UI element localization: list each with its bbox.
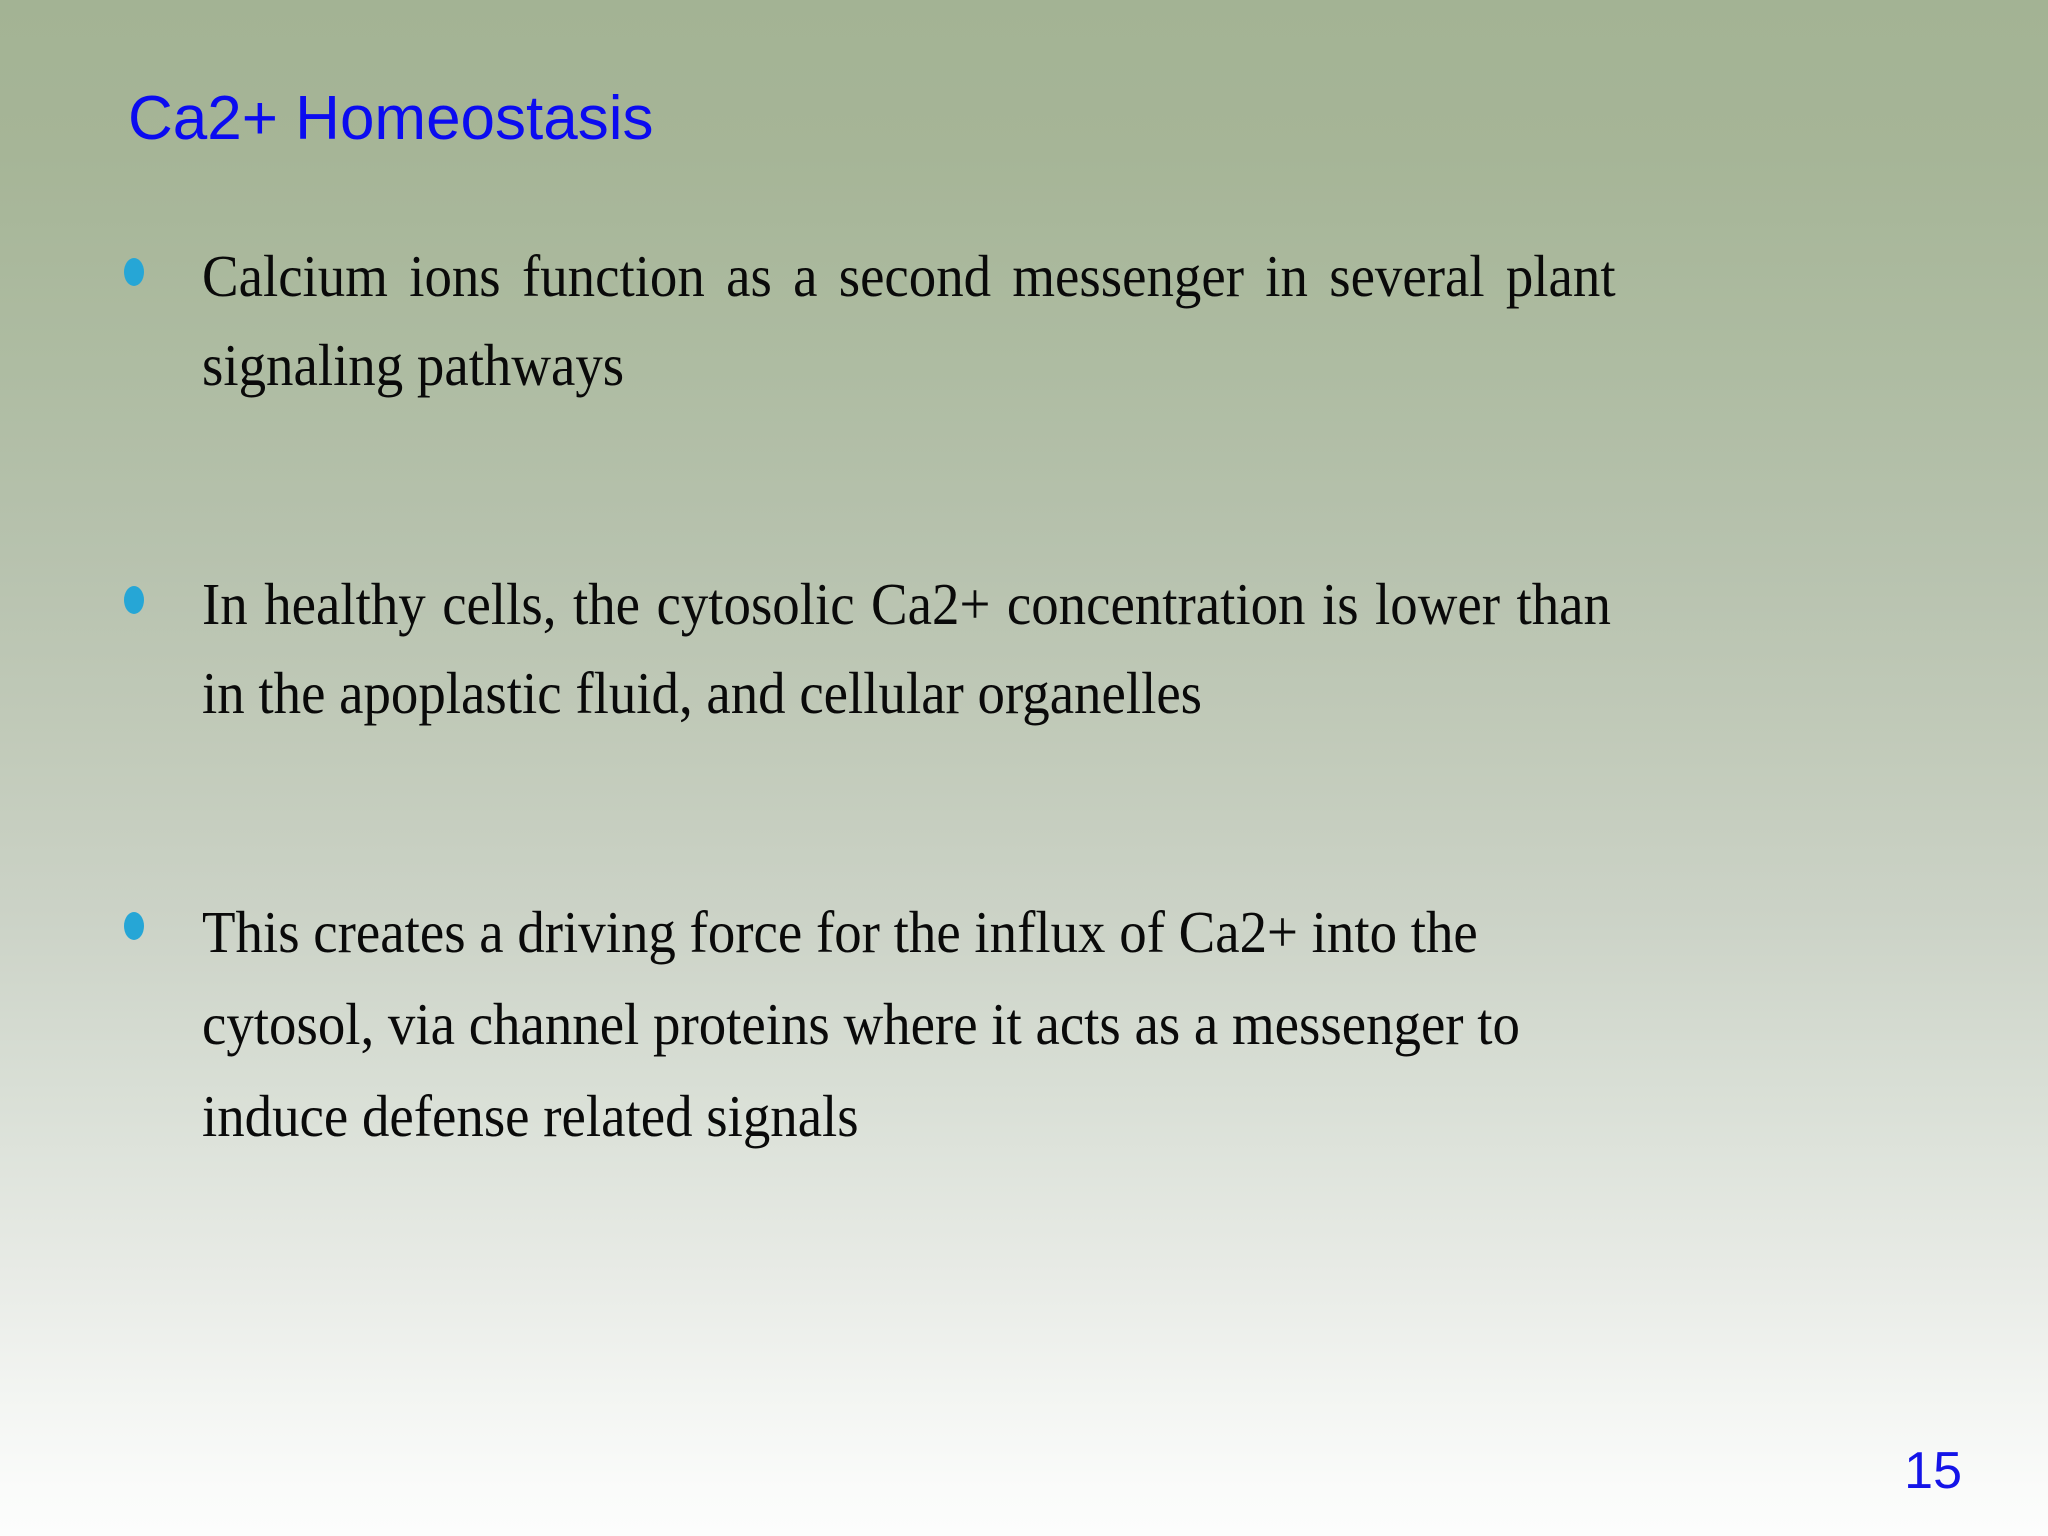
list-item: Calcium ions function as a second messen… bbox=[112, 232, 1952, 410]
oval-bullet-icon bbox=[124, 912, 144, 940]
bullet-list: Calcium ions function as a second messen… bbox=[112, 232, 1952, 1162]
list-item-text: This creates a driving force for the inf… bbox=[202, 886, 1551, 1162]
list-item: This creates a driving force for the inf… bbox=[112, 886, 1952, 1162]
list-item-text: Calcium ions function as a second messen… bbox=[202, 232, 1616, 410]
page-number: 15 bbox=[1904, 1442, 1962, 1500]
oval-bullet-icon bbox=[124, 586, 144, 614]
presentation-slide: Ca2+ Homeostasis Calcium ions function a… bbox=[0, 0, 2048, 1536]
oval-bullet-icon bbox=[124, 258, 144, 286]
page-title: Ca2+ Homeostasis bbox=[128, 82, 654, 156]
list-item: In healthy cells, the cytosolic Ca2+ con… bbox=[112, 560, 1952, 738]
list-item-text: In healthy cells, the cytosolic Ca2+ con… bbox=[202, 560, 1611, 738]
